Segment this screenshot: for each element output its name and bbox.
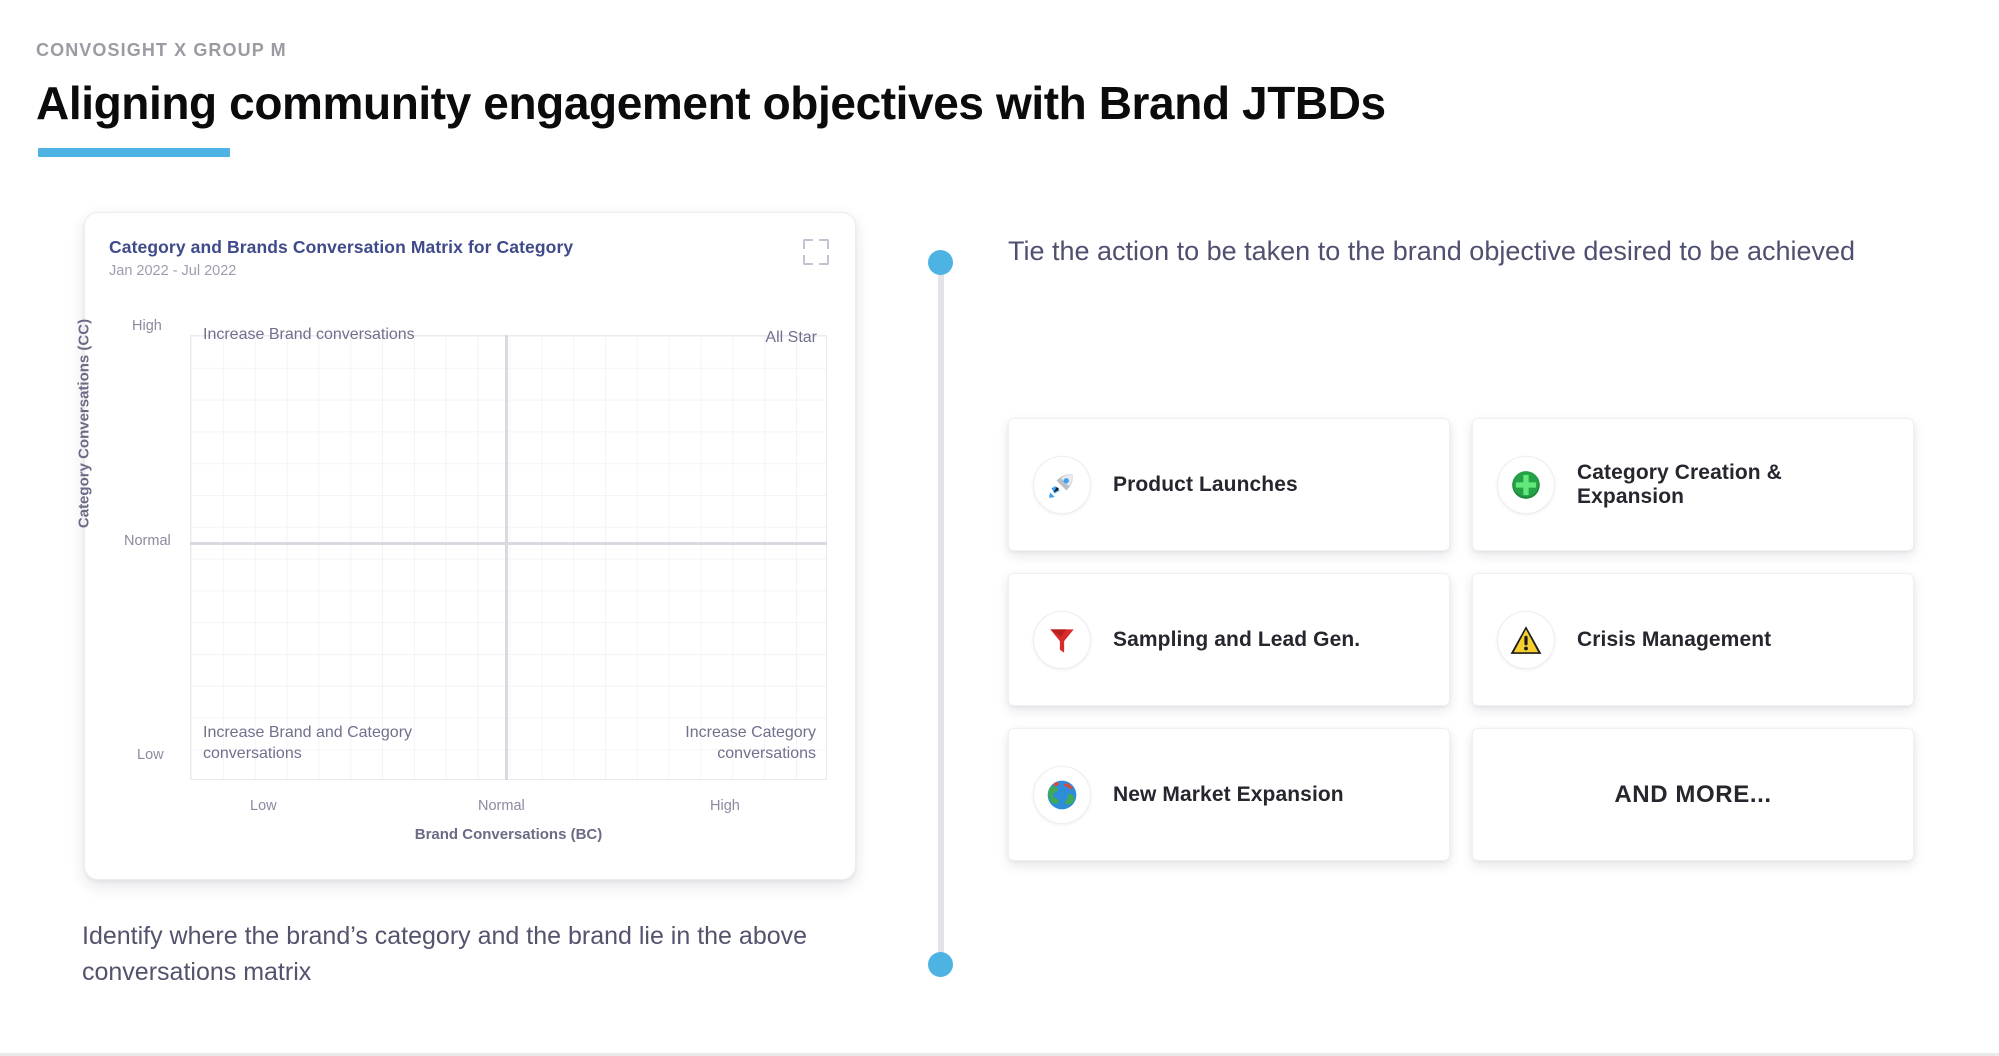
x-axis-title: Brand Conversations (BC) bbox=[190, 826, 827, 843]
page-title: Aligning community engagement objectives… bbox=[36, 76, 1386, 130]
green-plus-icon bbox=[1497, 456, 1555, 514]
card-and-more[interactable]: AND MORE... bbox=[1472, 728, 1914, 861]
globe-icon bbox=[1033, 766, 1091, 824]
timeline-dot-bottom bbox=[928, 952, 953, 977]
card-label: Sampling and Lead Gen. bbox=[1113, 628, 1360, 652]
title-underline bbox=[38, 148, 230, 157]
y-tick-high: High bbox=[132, 318, 162, 334]
card-label: New Market Expansion bbox=[1113, 783, 1344, 807]
y-tick-normal: Normal bbox=[124, 533, 171, 549]
matrix-horizontal-divider bbox=[190, 542, 827, 545]
x-tick-high: High bbox=[710, 798, 740, 814]
card-category-creation-expansion[interactable]: Category Creation & Expansion bbox=[1472, 418, 1914, 551]
card-new-market-expansion[interactable]: New Market Expansion bbox=[1008, 728, 1450, 861]
quadrant-label-top-left: Increase Brand conversations bbox=[203, 324, 415, 345]
quadrant-label-bottom-right: Increase Category conversations bbox=[600, 722, 816, 764]
card-sampling-lead-gen[interactable]: Sampling and Lead Gen. bbox=[1008, 573, 1450, 706]
eyebrow-label: CONVOSIGHT X GROUP M bbox=[36, 40, 287, 61]
timeline-connector-line bbox=[938, 258, 944, 970]
quadrant-label-top-right: All Star bbox=[637, 327, 817, 348]
x-tick-low: Low bbox=[250, 798, 277, 814]
card-product-launches[interactable]: Product Launches bbox=[1008, 418, 1450, 551]
slide: CONVOSIGHT X GROUP M Aligning community … bbox=[0, 0, 1999, 1056]
card-row: New Market Expansion AND MORE... bbox=[1008, 728, 1928, 861]
card-label: Product Launches bbox=[1113, 473, 1298, 497]
chart-caption: Identify where the brand’s category and … bbox=[82, 918, 882, 991]
expand-icon[interactable] bbox=[803, 239, 829, 265]
quadrant-label-bottom-left: Increase Brand and Category conversation… bbox=[203, 722, 443, 764]
chart-subtitle: Jan 2022 - Jul 2022 bbox=[109, 263, 236, 279]
matrix-vertical-divider bbox=[505, 335, 508, 780]
card-crisis-management[interactable]: Crisis Management bbox=[1472, 573, 1914, 706]
card-label: Crisis Management bbox=[1577, 628, 1771, 652]
warning-triangle-icon bbox=[1497, 611, 1555, 669]
chart-title: Category and Brands Conversation Matrix … bbox=[109, 237, 573, 258]
card-label: Category Creation & Expansion bbox=[1577, 461, 1889, 509]
card-label: AND MORE... bbox=[1614, 781, 1771, 809]
timeline-dot-top bbox=[928, 250, 953, 275]
x-tick-normal: Normal bbox=[478, 798, 525, 814]
objective-cards-grid: Product Launches Category Creation & Exp… bbox=[1008, 418, 1928, 883]
card-row: Product Launches Category Creation & Exp… bbox=[1008, 418, 1928, 551]
y-axis-title: Category Conversations (CC) bbox=[76, 304, 93, 544]
y-tick-low: Low bbox=[137, 747, 164, 763]
rocket-icon bbox=[1033, 456, 1091, 514]
funnel-icon bbox=[1033, 611, 1091, 669]
panel-lede-text: Tie the action to be taken to the brand … bbox=[1008, 232, 1908, 271]
card-row: Sampling and Lead Gen. Crisis Management bbox=[1008, 573, 1928, 706]
matrix-plot-area bbox=[190, 335, 827, 780]
